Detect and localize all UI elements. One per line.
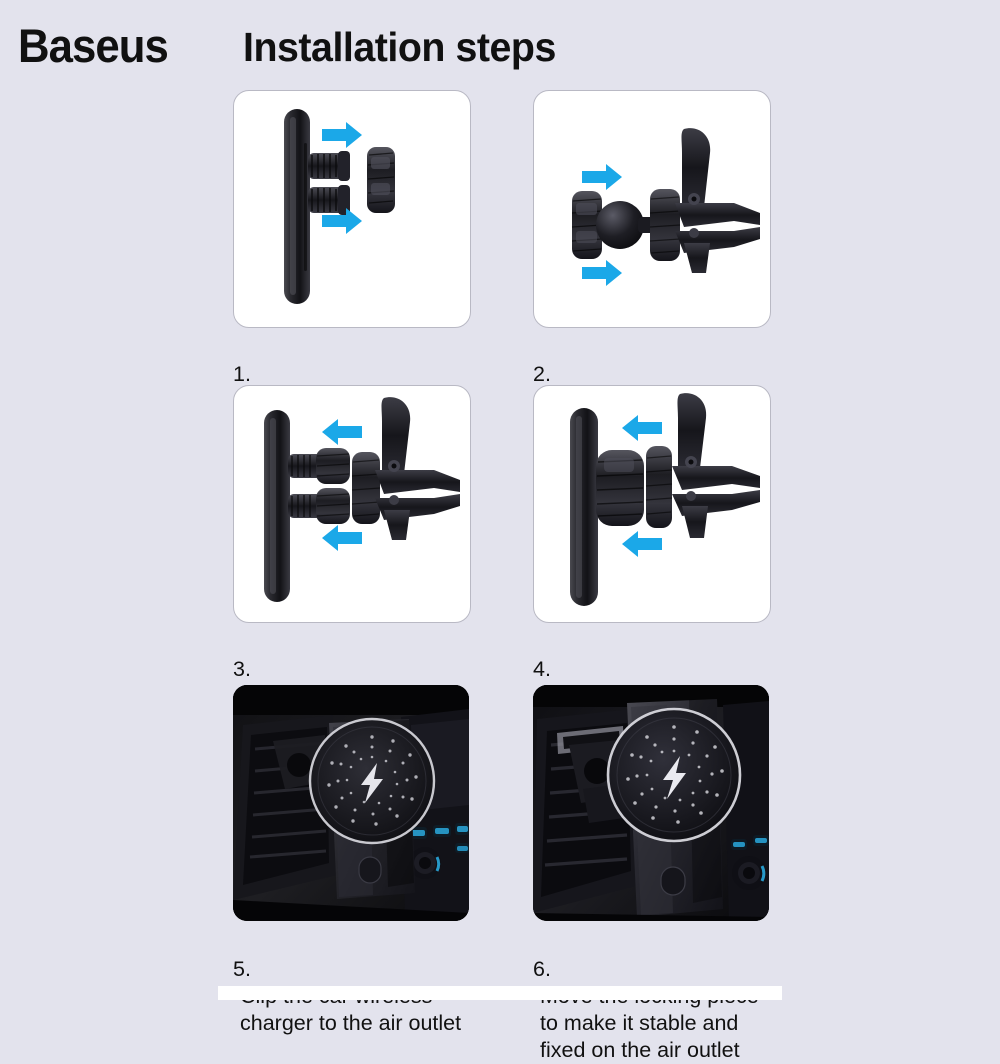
step-3-number: 3. — [233, 656, 251, 683]
charger-disc-tightened-on-clamp-icon — [534, 386, 770, 622]
step-5-caption: 5. Clip the car wirelesscharger to the a… — [233, 929, 513, 1037]
step-2-number: 2. — [533, 361, 551, 388]
step-1-illustration-card — [233, 90, 471, 328]
arrow-left-icon — [622, 531, 662, 557]
brand-logo: Baseus — [18, 22, 168, 69]
charger-disc-and-nut-exploded-icon — [234, 91, 470, 327]
step-3-illustration-card — [233, 385, 471, 623]
nut-ball-joint-and-vent-clamp-icon — [534, 91, 770, 327]
car-vent-photo-locking-piece-icon — [533, 685, 769, 921]
step-5-number: 5. — [233, 956, 251, 983]
charger-disc-joined-to-clamp-icon — [234, 386, 470, 622]
arrow-right-icon — [322, 122, 362, 148]
page-header: Baseus Installation steps — [0, 0, 1000, 90]
bottom-white-band — [218, 986, 782, 1000]
vent-clamp — [675, 128, 760, 273]
step-2-illustration-card — [533, 90, 771, 328]
arrow-right-icon — [582, 260, 622, 286]
step-1-number: 1. — [233, 361, 251, 388]
step-5-photo-card — [233, 685, 469, 921]
arrow-left-icon — [322, 419, 362, 445]
arrow-right-icon — [582, 164, 622, 190]
arrow-left-icon — [622, 415, 662, 441]
step-4-number: 4. — [533, 656, 551, 683]
car-vent-photo-charger-mounted-icon — [233, 685, 469, 921]
step-6-number: 6. — [533, 956, 551, 983]
page-title: Installation steps — [243, 25, 556, 69]
ridged-collar — [650, 189, 680, 261]
ball-head — [596, 201, 644, 249]
step-4-illustration-card — [533, 385, 771, 623]
step-6-photo-card — [533, 685, 769, 921]
arrow-left-icon — [322, 525, 362, 551]
installation-steps-page: Baseus Installation steps — [0, 0, 1000, 1000]
